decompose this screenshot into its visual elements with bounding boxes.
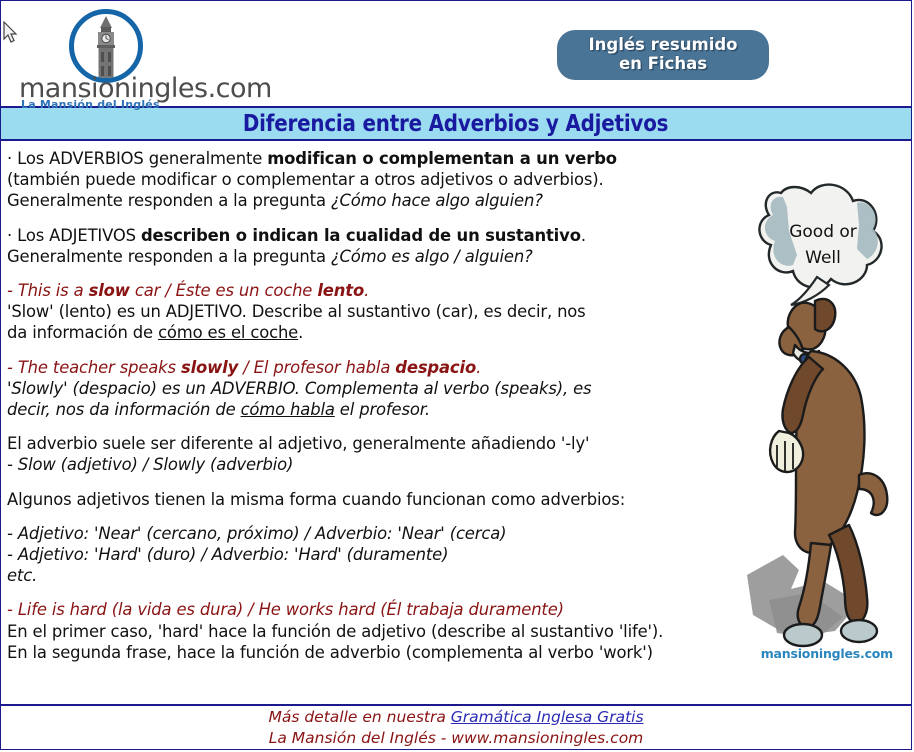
title-bar: Diferencia entre Adverbios y Adjetivos	[1, 108, 911, 141]
text-line: 'Slowly' (despacio) es un ADVERBIO. Comp…	[7, 378, 739, 399]
text-line: · Los ADJETIVOS describen o indican la c…	[7, 225, 739, 246]
example-line: - The teacher speaks slowly / El profeso…	[7, 357, 739, 378]
text-run-underline: cómo habla	[241, 400, 335, 419]
text-run-bold: despacio	[395, 358, 476, 377]
text-run: .	[298, 323, 303, 342]
text-line: · Los ADVERBIOS generalmente modifican o…	[7, 148, 739, 169]
example-line: - This is a slow car / Éste es un coche …	[7, 280, 739, 301]
text-line: Generalmente responden a la pregunta ¿Có…	[7, 190, 739, 211]
bubble-line-2: Well	[805, 248, 841, 268]
text-run: 'Slow' (lento) es un ADJETIVO. Describe …	[7, 302, 586, 321]
text-run: En el primer caso, 'hard' hace la funció…	[7, 622, 663, 641]
footer-line-2: La Mansión del Inglés - www.mansioningle…	[269, 728, 644, 749]
text-line: Generalmente responden a la pregunta ¿Có…	[7, 246, 739, 267]
text-run: - Life is hard (la vida es dura) / He wo…	[7, 600, 564, 619]
text-line: 'Slow' (lento) es un ADJETIVO. Describe …	[7, 301, 739, 322]
text-run: - The teacher speaks	[7, 358, 181, 377]
text-run-bold: slowly	[181, 358, 238, 377]
text-line: (también puede modificar o complementar …	[7, 169, 739, 190]
site-logo[interactable]: mansioningles.com La Mansión del Inglés	[11, 5, 241, 105]
text-run: Generalmente responden a la pregunta	[7, 247, 331, 266]
text-run: - Adjetivo: 'Hard' (duro) / Adverbio: 'H…	[7, 545, 448, 564]
text-run: Algunos adjetivos tienen la misma forma …	[7, 490, 625, 509]
text-line: decir, nos da información de cómo habla …	[7, 399, 739, 420]
text-line: etc.	[7, 565, 739, 586]
text-run-bold: describen o indican la cualidad de un su…	[141, 226, 581, 245]
bubble-line-1: Good or	[789, 222, 857, 242]
series-badge[interactable]: Inglés resumido en Fichas	[557, 30, 769, 80]
text-line: da información de cómo es el coche.	[7, 322, 739, 343]
text-run: el profesor.	[335, 400, 430, 419]
grammar-link[interactable]: Gramática Inglesa Gratis	[451, 708, 644, 726]
text-run: - Slow (adjetivo) / Slowly (adverbio)	[7, 455, 293, 474]
text-line: En el primer caso, 'hard' hace la funció…	[7, 621, 739, 642]
text-run: · Los ADVERBIOS generalmente	[7, 149, 267, 168]
text-run: da información de	[7, 323, 158, 342]
example-line: - Life is hard (la vida es dura) / He wo…	[7, 599, 739, 620]
lesson-text-column: · Los ADVERBIOS generalmente modifican o…	[1, 141, 739, 663]
text-run: · Los ADJETIVOS	[7, 226, 141, 245]
page-footer: Más detalle en nuestra Gramática Inglesa…	[1, 704, 911, 749]
text-run: .	[581, 226, 586, 245]
text-run: (también puede modificar o complementar …	[7, 170, 604, 189]
text-run-bold: modifican o complementan a un verbo	[267, 149, 617, 168]
badge-line-2: en Fichas	[619, 54, 707, 73]
text-run-underline: cómo es el coche	[158, 323, 298, 342]
text-run: etc.	[7, 566, 37, 585]
text-run: .	[476, 358, 481, 377]
text-line: - Adjetivo: 'Near' (cercano, próximo) / …	[7, 523, 739, 544]
footer-line-1: Más detalle en nuestra Gramática Inglesa…	[268, 707, 643, 728]
page-header: mansioningles.com La Mansión del Inglés …	[1, 1, 911, 108]
text-run: .	[364, 281, 369, 300]
thought-bubble: Good or Well	[759, 185, 881, 305]
cartoon-dog-illustration: Good or Well	[739, 145, 905, 675]
text-run-bold: slow	[89, 281, 130, 300]
text-run: 'Slowly' (despacio) es un ADVERBIO. Comp…	[7, 379, 591, 398]
text-run: decir, nos da información de	[7, 400, 241, 419]
text-line: - Slow (adjetivo) / Slowly (adverbio)	[7, 454, 739, 475]
text-run: car / Éste es un coche	[130, 281, 318, 300]
text-run-italic: ¿Cómo hace algo alguien?	[331, 191, 543, 210]
text-run: - Adjetivo: 'Near' (cercano, próximo) / …	[7, 524, 506, 543]
text-line: El adverbio suele ser diferente al adjet…	[7, 433, 739, 454]
big-ben-clock-tower-icon	[69, 9, 143, 83]
text-run: En la segunda frase, hace la función de …	[7, 643, 653, 662]
text-run-italic: ¿Cómo es algo / alguien?	[331, 247, 533, 266]
text-run: El adverbio suele ser diferente al adjet…	[7, 434, 589, 453]
page-title: Diferencia entre Adverbios y Adjetivos	[243, 111, 668, 137]
text-run: - This is a	[7, 281, 89, 300]
logo-tagline: La Mansión del Inglés	[21, 98, 160, 111]
text-run: Generalmente responden a la pregunta	[7, 191, 331, 210]
badge-line-1: Inglés resumido	[589, 35, 738, 54]
text-line: - Adjetivo: 'Hard' (duro) / Adverbio: 'H…	[7, 544, 739, 565]
text-line: Algunos adjetivos tienen la misma forma …	[7, 489, 739, 510]
card-body: · Los ADVERBIOS generalmente modifican o…	[1, 141, 911, 704]
text-run: Más detalle en nuestra	[268, 708, 450, 726]
flashcard: mansioningles.com La Mansión del Inglés …	[0, 0, 912, 750]
text-run: / El profesor habla	[238, 358, 395, 377]
text-run-bold: lento	[317, 281, 364, 300]
text-line: En la segunda frase, hace la función de …	[7, 642, 739, 663]
illustration-credit: mansioningles.com	[761, 646, 893, 661]
